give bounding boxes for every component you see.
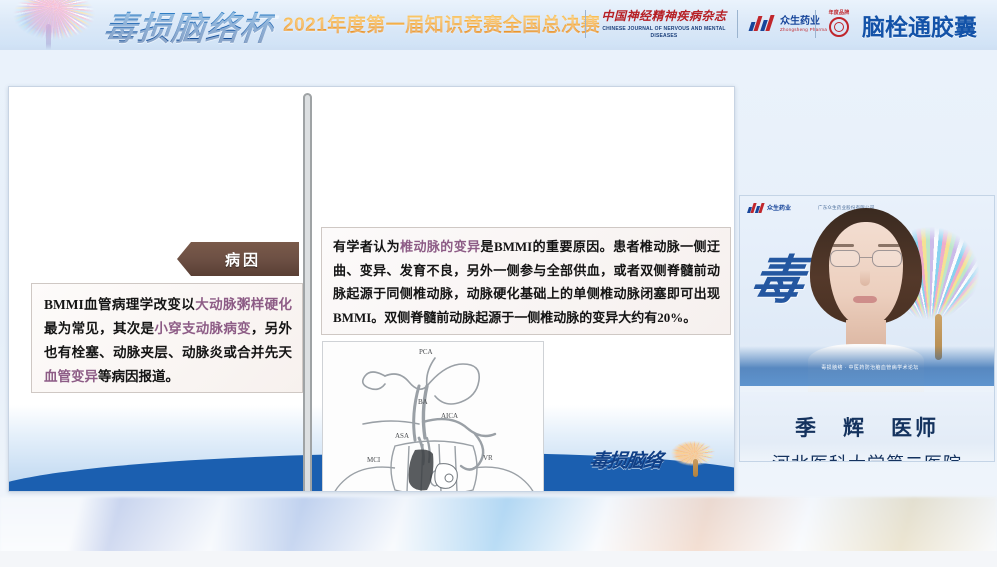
journal-logo: 中国神经精神疾病杂志 CHINESE JOURNAL OF NERVOUS AN… (600, 7, 728, 40)
speaker-organization: 河北医科大学第二医院 (740, 450, 994, 462)
right-text-seg1: 有学者认为 (333, 239, 400, 254)
figure-label-asa: ASA (395, 432, 409, 440)
brand-seal-label: 年度品牌 (824, 9, 854, 16)
neural-tree-stem-icon (46, 24, 51, 50)
event-title: 2021年度第一届知识竞赛全国总决赛 (283, 10, 600, 37)
video-pharma-name: 众生药业 (767, 203, 791, 212)
figure-label-ba: BA (418, 398, 428, 406)
section-arrow-label: 病因 (215, 249, 261, 270)
right-text-highlight1: 椎动脉的变异 (400, 239, 480, 254)
presentation-slide[interactable]: 病因 BMMI血管病理学改变以大动脉粥样硬化最为常见，其次是小穿支动脉病变，另外… (8, 86, 735, 492)
speaker-name: 季 辉 医师 (740, 412, 994, 442)
seal-ring-icon (829, 17, 849, 37)
brain-stem-icon (693, 459, 698, 477)
glasses-icon (830, 250, 902, 267)
figure-label-aica: AICA (441, 412, 458, 420)
header-divider-1 (585, 10, 586, 38)
left-text-seg2: 最为常见，其次是 (44, 321, 154, 336)
right-text-box: 有学者认为椎动脉的变异是BMMI的重要原因。患者椎动脉一侧迂曲、变异、发育不良，… (321, 227, 731, 335)
video-backdrop-pharma-logo: 众生药业 (748, 202, 791, 213)
pharma-name-cn: 众生药业 (780, 12, 827, 27)
event-header-banner: 毒损脑络杯 2021年度第一届知识竞赛全国总决赛 中国神经精神疾病杂志 CHIN… (0, 0, 997, 50)
figure-label-mci: MCI (367, 456, 381, 464)
speaker-mouth (853, 296, 877, 303)
left-text-highlight2: 小穿支动脉病变 (154, 321, 251, 336)
neural-tree-art-icon (6, 0, 102, 50)
video-backdrop-band-text: 毒损脑络 · 中医药防治脑血管病学术论坛 (780, 364, 960, 371)
product-name: 脑栓通胶囊 (862, 8, 977, 42)
figure-label-vr: VR (483, 454, 493, 462)
video-backdrop-calligraphy-1: 毒 (747, 238, 810, 313)
speaker-brow-right (878, 244, 900, 247)
screen-bottom-edge (0, 551, 997, 567)
figure-label-pca: PCA (419, 348, 433, 356)
pharma-name-en: Zhongsheng Pharma (780, 27, 827, 32)
speaker-caption: 季 辉 医师 河北医科大学第二医院 (740, 392, 994, 462)
speaker-nose (860, 270, 870, 286)
header-divider-2 (737, 10, 738, 38)
left-text-box: BMMI血管病理学改变以大动脉粥样硬化最为常见，其次是小穿支动脉病变，另外也有栓… (31, 283, 303, 393)
speaker-brow-left (832, 244, 854, 247)
slide-footer-logo: 毒损脑络 (590, 439, 722, 479)
left-text-highlight1: 大动脉粥样硬化 (195, 297, 292, 312)
pharma-mark-icon (750, 14, 776, 31)
slide-vertical-divider (303, 93, 312, 492)
speaker-video-panel[interactable]: 毒 络 众生药业 广东众生药业股份有限公司 毒损脑络 · 中医药防治脑血管病学术… (739, 195, 995, 462)
left-text-seg1: BMMI血管病理学改变以 (44, 297, 195, 312)
left-text-seg4: 等病因报道。 (98, 369, 179, 384)
journal-name-en: CHINESE JOURNAL OF NERVOUS AND MENTAL DI… (600, 26, 728, 40)
brainstem-diagram-svg: PCA BA AICA ASA MCI VR (323, 342, 545, 492)
left-text-highlight3: 血管变异 (44, 369, 98, 384)
brainstem-vasculature-figure: PCA BA AICA ASA MCI VR R L 解剖示意图 (322, 341, 544, 492)
slide-footer-logo-text: 毒损脑络 (588, 446, 664, 473)
header-divider-3 (815, 10, 816, 38)
competition-logo-text: 毒损脑络杯 (101, 2, 276, 50)
section-arrow-banner: 病因 (177, 242, 299, 276)
brand-seal-icon: 年度品牌 (824, 9, 854, 39)
video-pharma-mark-icon (748, 202, 764, 213)
journal-name-cn: 中国神经精神疾病杂志 (600, 7, 728, 24)
